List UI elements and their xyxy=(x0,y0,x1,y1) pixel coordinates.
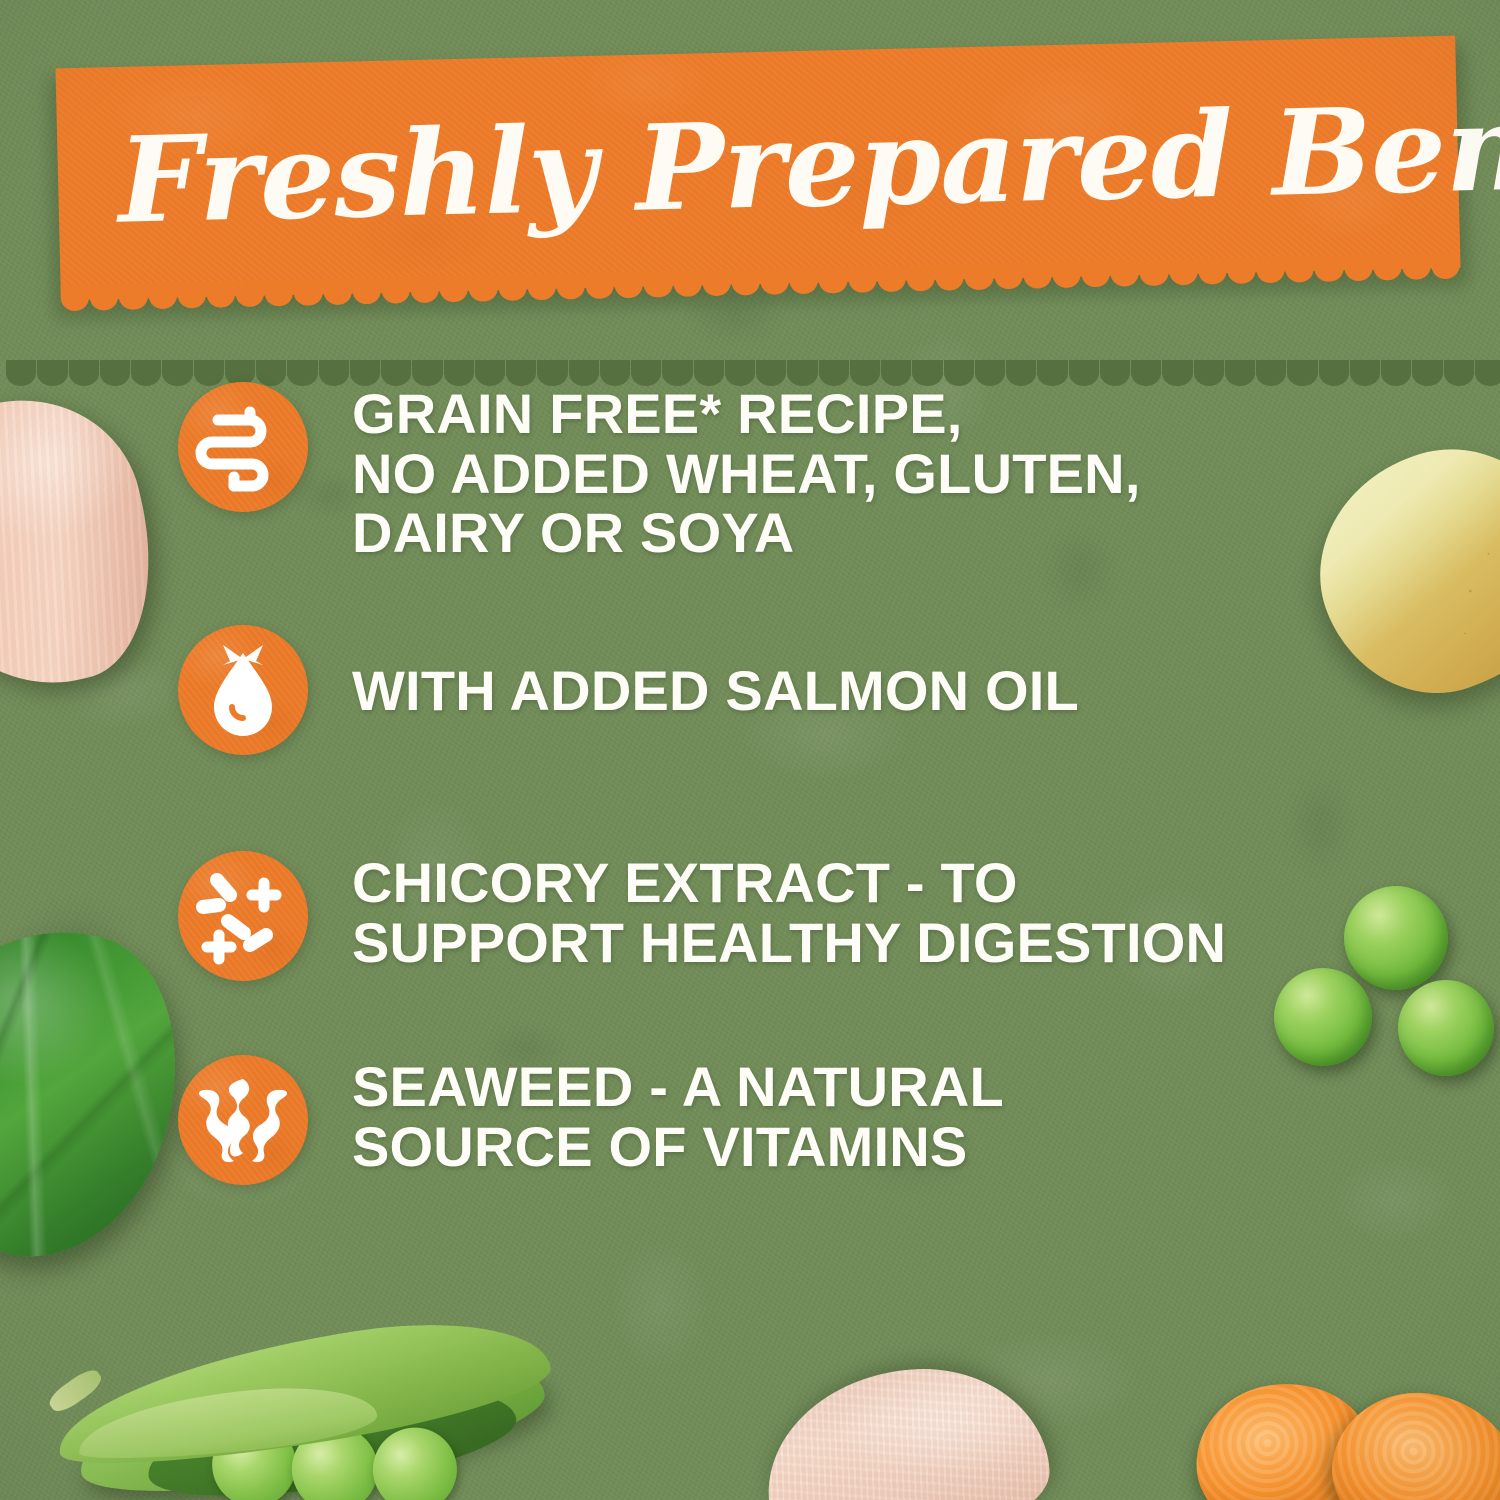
benefit-line: WITH ADDED SALMON OIL xyxy=(352,661,1079,721)
carrot-slice xyxy=(1186,1372,1381,1500)
header-banner: Freshly Prepared Benefits xyxy=(0,0,1500,360)
pea-pod-stem xyxy=(45,1365,105,1416)
seaweed-icon-badge xyxy=(178,1055,308,1185)
pea-pod-back-shell xyxy=(70,1329,552,1500)
benefit-item-chicory-extract: CHICORY EXTRACT - TO SUPPORT HEALTHY DIG… xyxy=(178,851,1378,981)
carrot-slice xyxy=(1318,1377,1500,1500)
chicken-bottom xyxy=(761,1360,1054,1500)
pea-pod-lid xyxy=(75,1379,379,1465)
benefit-text-chicory-extract: CHICORY EXTRACT - TO SUPPORT HEALTHY DIG… xyxy=(352,851,1226,972)
benefit-text-grain-free: GRAIN FREE* RECIPE, NO ADDED WHEAT, GLUT… xyxy=(352,382,1141,563)
probiotic-bacteria-icon xyxy=(178,851,308,981)
benefit-line: GRAIN FREE* RECIPE, xyxy=(352,384,1141,444)
benefit-text-seaweed: SEAWEED - A NATURAL SOURCE OF VITAMINS xyxy=(352,1055,1004,1176)
benefits-panel: Freshly Prepared Benefits GRAIN FREE* RE… xyxy=(0,0,1500,1500)
probiotic-bacteria-icon-badge xyxy=(178,851,308,981)
benefit-line: DAIRY OR SOYA xyxy=(352,503,1141,563)
pea-pod-front-shell xyxy=(48,1302,556,1483)
intestine-icon-badge xyxy=(178,382,308,512)
banner-ribbon: Freshly Prepared Benefits xyxy=(55,36,1460,301)
benefit-line: NO ADDED WHEAT, GLUTEN, xyxy=(352,444,1141,504)
benefit-line: SEAWEED - A NATURAL xyxy=(352,1057,1004,1117)
benefits-list: GRAIN FREE* RECIPE, NO ADDED WHEAT, GLUT… xyxy=(178,382,1378,1185)
benefit-line: CHICORY EXTRACT - TO xyxy=(352,853,1226,913)
pea-in-pod xyxy=(367,1422,463,1500)
pea-pod-bottom-left xyxy=(48,1298,591,1500)
intestine-icon xyxy=(178,382,308,512)
benefit-line: SOURCE OF VITAMINS xyxy=(352,1117,1004,1177)
fish-oil-droplet-icon xyxy=(178,625,308,755)
benefit-item-salmon-oil: WITH ADDED SALMON OIL xyxy=(178,625,1378,755)
benefit-line: SUPPORT HEALTHY DIGESTION xyxy=(352,913,1226,973)
pea-pod-inner xyxy=(140,1366,522,1500)
pea-in-pod xyxy=(286,1420,384,1500)
green-pea xyxy=(1398,980,1494,1076)
pea-in-pod xyxy=(206,1417,302,1500)
benefit-item-seaweed: SEAWEED - A NATURAL SOURCE OF VITAMINS xyxy=(178,1055,1378,1185)
seaweed-icon xyxy=(178,1055,308,1185)
benefit-text-salmon-oil: WITH ADDED SALMON OIL xyxy=(352,659,1079,721)
fish-oil-droplet-icon-badge xyxy=(178,625,308,755)
chicken-breast-left xyxy=(0,376,177,707)
benefit-item-grain-free: GRAIN FREE* RECIPE, NO ADDED WHEAT, GLUT… xyxy=(178,382,1378,563)
